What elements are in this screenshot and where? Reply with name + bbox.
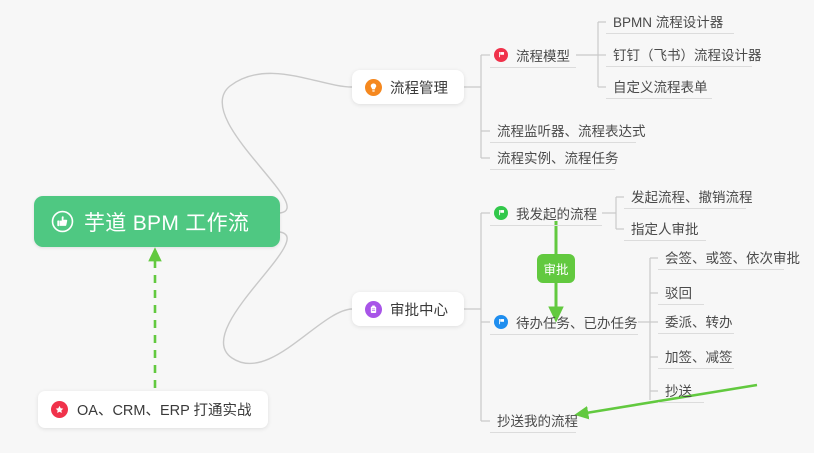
callout-node-integration[interactable]: OA、CRM、ERP 打通实战 [38,391,268,428]
leaf-node-reject[interactable]: 驳回 [658,280,704,305]
branch-node-approval-center[interactable]: 审批中心 [352,292,464,326]
leaf-node-add-remove-sign[interactable]: 加签、减签 [658,344,734,369]
root-node-label: 芋道 BPM 工作流 [84,207,249,237]
branch-label-process-management: 流程管理 [390,77,448,98]
callout-label-integration: OA、CRM、ERP 打通实战 [77,399,252,420]
root-node[interactable]: 芋道 BPM 工作流 [34,196,280,247]
leaf-label-custom-form: 自定义流程表单 [613,81,708,95]
leaf-node-cc-my-process[interactable]: 抄送我的流程 [490,408,576,433]
sub-label-todo-done-tasks: 待办任务、已办任务 [516,312,638,332]
leaf-label-start-cancel-process: 发起流程、撤销流程 [631,191,753,205]
flow-badge-approval-label: 审批 [543,259,568,278]
leaf-label-bpmn-designer: BPMN 流程设计器 [613,16,723,30]
sub-label-my-initiated-process: 我发起的流程 [516,203,597,223]
leaf-label-add-remove-sign: 加签、减签 [665,351,733,365]
branch-label-approval-center: 审批中心 [390,299,448,320]
sub-node-my-initiated-process[interactable]: 我发起的流程 [490,200,602,226]
lightbulb-icon [365,79,382,96]
leaf-node-cc[interactable]: 抄送 [658,378,704,403]
connector-root-to-approval-center [223,232,352,364]
leaf-node-delegate-transfer[interactable]: 委派、转办 [658,309,734,334]
leaf-label-delegate-transfer: 委派、转办 [665,316,733,330]
branch-node-process-management[interactable]: 流程管理 [352,70,464,104]
connector-root-to-process-management [222,73,352,213]
leaf-node-start-cancel-process[interactable]: 发起流程、撤销流程 [624,184,746,209]
leaf-label-countersign: 会签、或签、依次审批 [665,252,800,266]
leaf-label-process-listener: 流程监听器、流程表达式 [497,125,646,139]
thumbs-up-icon [51,210,74,233]
leaf-label-dingtalk-designer: 钉钉（飞书）流程设计器 [613,49,762,63]
leaf-node-dingtalk-designer[interactable]: 钉钉（飞书）流程设计器 [606,42,752,67]
leaf-node-bpmn-designer[interactable]: BPMN 流程设计器 [606,9,734,34]
leaf-node-assignee-approval[interactable]: 指定人审批 [624,216,706,241]
sub-node-todo-done-tasks[interactable]: 待办任务、已办任务 [490,309,638,335]
star-icon [51,401,68,418]
sub-node-process-model[interactable]: 流程模型 [490,42,576,68]
mindmap-canvas: 芋道 BPM 工作流 流程管理 审批中心 [0,0,814,453]
leaf-label-process-instance: 流程实例、流程任务 [497,152,619,166]
leaf-node-process-instance[interactable]: 流程实例、流程任务 [490,145,615,170]
flag-icon [494,315,508,329]
leaf-node-countersign[interactable]: 会签、或签、依次审批 [658,245,784,270]
flow-badge-approval: 审批 [537,254,575,283]
clipboard-icon [365,301,382,318]
leaf-label-reject: 驳回 [665,287,692,301]
sub-label-process-model: 流程模型 [516,45,570,65]
leaf-label-cc-my-process: 抄送我的流程 [497,415,578,429]
flag-icon [494,206,508,220]
leaf-node-process-listener[interactable]: 流程监听器、流程表达式 [490,118,636,143]
leaf-node-custom-form[interactable]: 自定义流程表单 [606,74,712,99]
leaf-label-assignee-approval: 指定人审批 [631,223,699,237]
flag-icon [494,48,508,62]
leaf-label-cc: 抄送 [665,385,692,399]
